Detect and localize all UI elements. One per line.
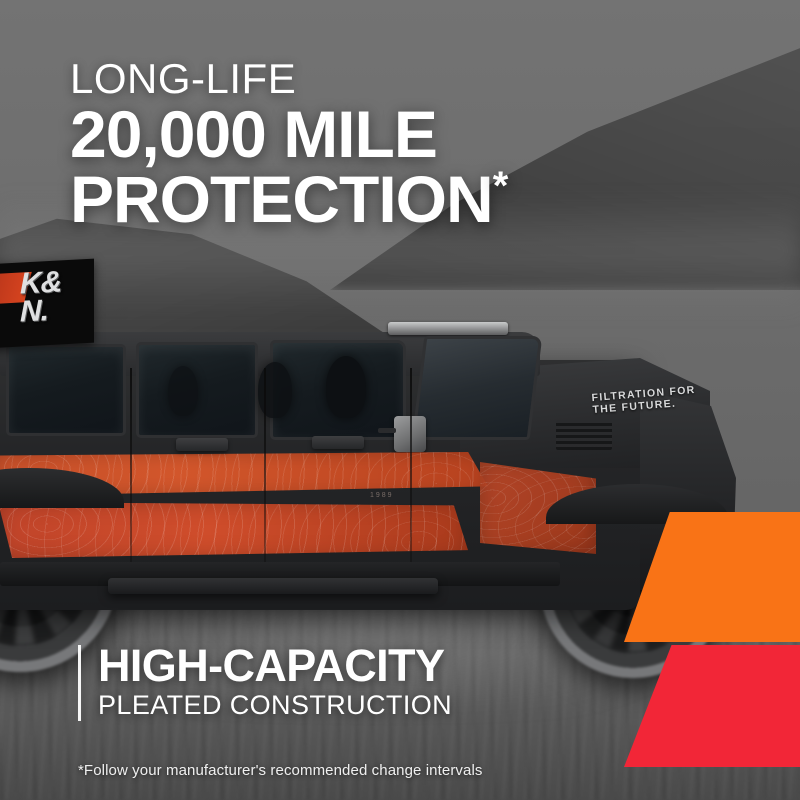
door-seam-rear	[130, 368, 132, 564]
rear-passenger	[168, 366, 198, 416]
door-handle-rear	[176, 438, 228, 451]
rear-window	[6, 344, 126, 436]
headline-block: LONG-LIFE 20,000 MILE PROTECTION*	[70, 56, 507, 231]
kn-logo-text: K& N.	[20, 268, 61, 326]
subhead-vertical-rule	[78, 645, 81, 721]
kn-logo-text-line2: N.	[20, 296, 61, 326]
driver	[326, 356, 366, 418]
roof-light-bar	[388, 322, 508, 335]
subhead-block: HIGH-CAPACITY PLEATED CONSTRUCTION	[78, 642, 452, 720]
advertisement-canvas: FILTRATION FOR THE FUTURE. 1989 K& N. LO…	[0, 0, 800, 800]
body-livery-lower-stripe	[0, 502, 468, 558]
door-seam-mid	[264, 368, 266, 564]
headline-line-2-text: PROTECTION	[70, 162, 493, 236]
subhead-main: HIGH-CAPACITY	[98, 642, 452, 690]
headline-line-1: 20,000 MILE	[70, 102, 507, 166]
subhead-sub: PLEATED CONSTRUCTION	[98, 690, 452, 720]
hood-vent	[556, 420, 612, 450]
side-step-bar	[108, 578, 438, 594]
door-seam-front	[410, 368, 412, 564]
door-badge: 1989	[370, 492, 394, 499]
windshield	[412, 336, 543, 440]
headline-eyebrow: LONG-LIFE	[70, 56, 507, 102]
headline-asterisk: *	[493, 164, 508, 208]
door-handle-front	[312, 436, 364, 449]
headline-line-2: PROTECTION*	[70, 166, 507, 231]
footnote-disclaimer: *Follow your manufacturer's recommended …	[78, 762, 482, 779]
kn-logo: K& N.	[0, 259, 94, 350]
